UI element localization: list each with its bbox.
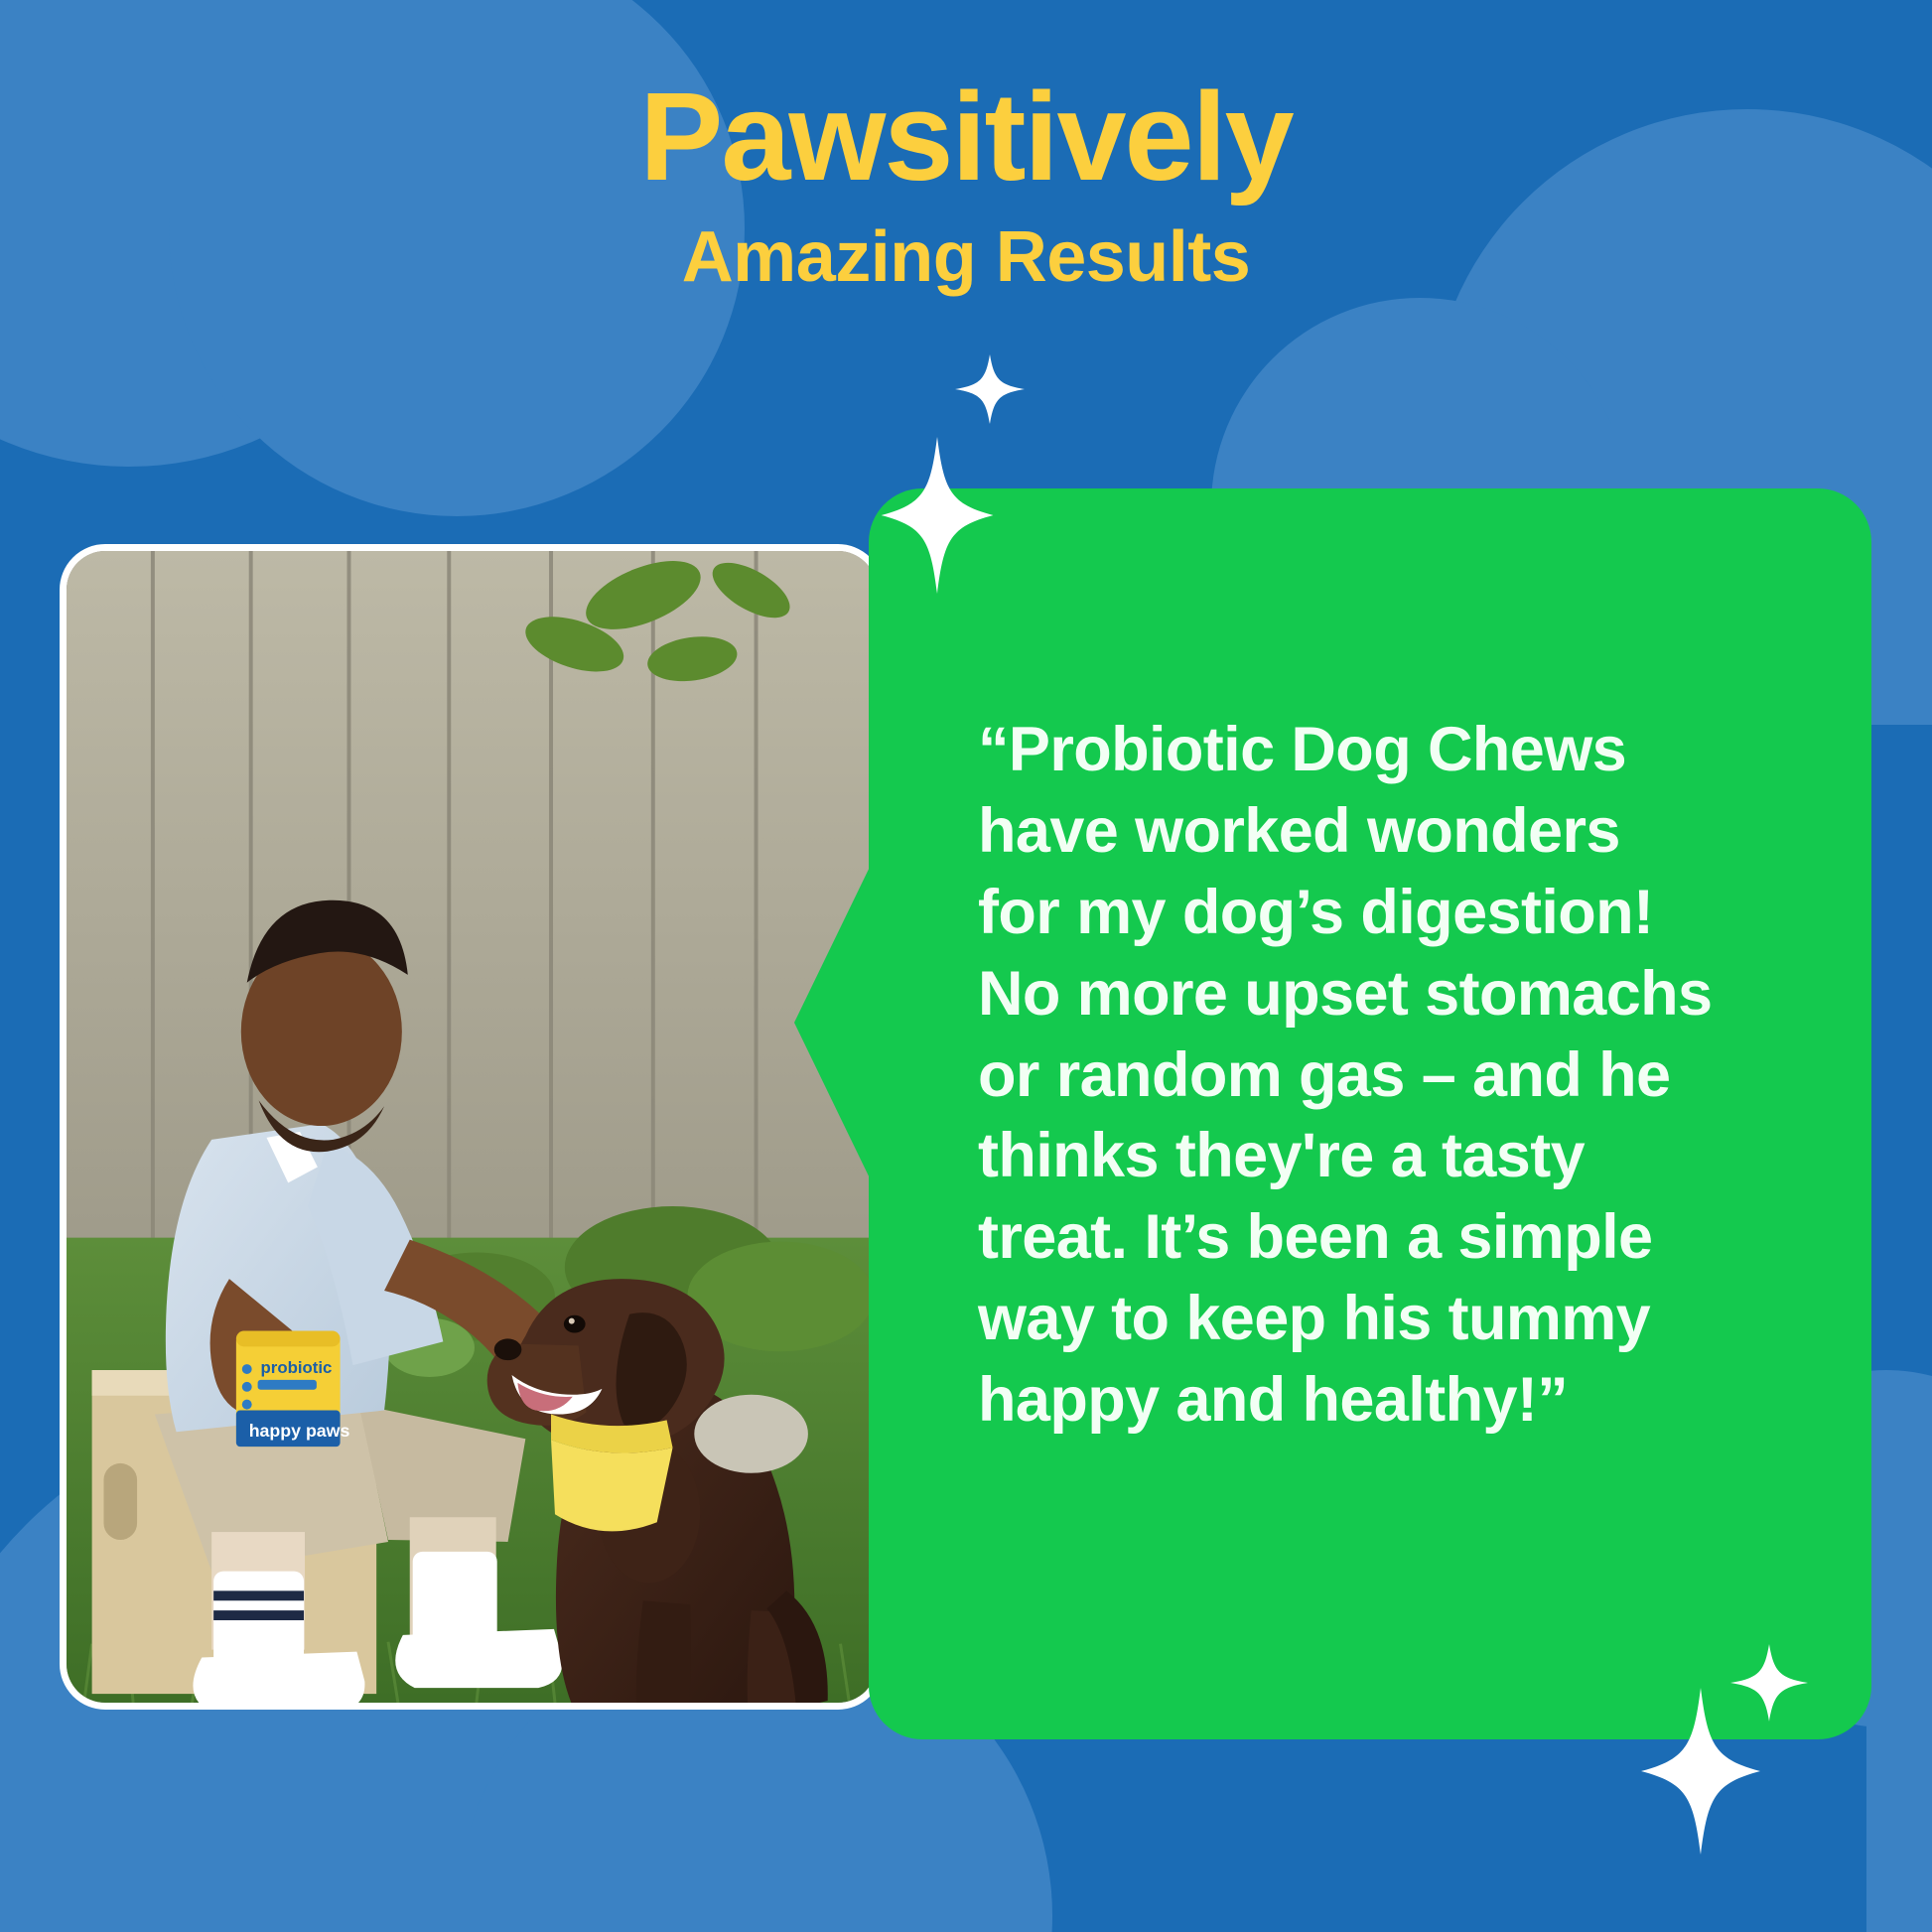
sparkle-icon-top-left-small [955,353,1025,425]
headline-main: Pawsitively [0,71,1932,203]
product-jar: probiotic happy paws [236,1331,350,1448]
photo-illustration: probiotic happy paws [67,551,877,1703]
testimonial-quote: “Probiotic Dog Chews have worked wonders… [978,710,1782,1442]
lifestyle-photo-card: probiotic happy paws [60,544,884,1710]
headline-subtitle: Amazing Results [0,216,1932,299]
jar-brand-text: probiotic [261,1358,333,1377]
jar-product-text: happy paws [249,1421,350,1441]
garden-rock [694,1395,808,1473]
testimonial-bubble-tail [794,859,874,1186]
lifestyle-photo: probiotic happy paws [67,551,877,1703]
page-title: Pawsitively Amazing Results [0,71,1932,299]
